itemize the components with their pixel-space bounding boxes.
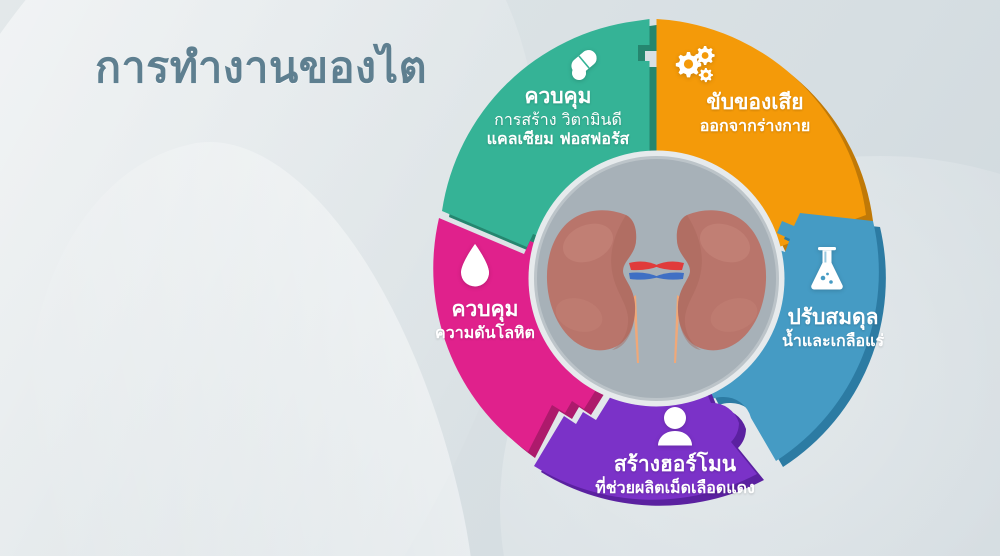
page-title: การทำงานของไต <box>95 42 427 96</box>
infographic-canvas: การทำงานของไต <box>0 0 1000 556</box>
kidney-function-wheel <box>383 5 930 552</box>
